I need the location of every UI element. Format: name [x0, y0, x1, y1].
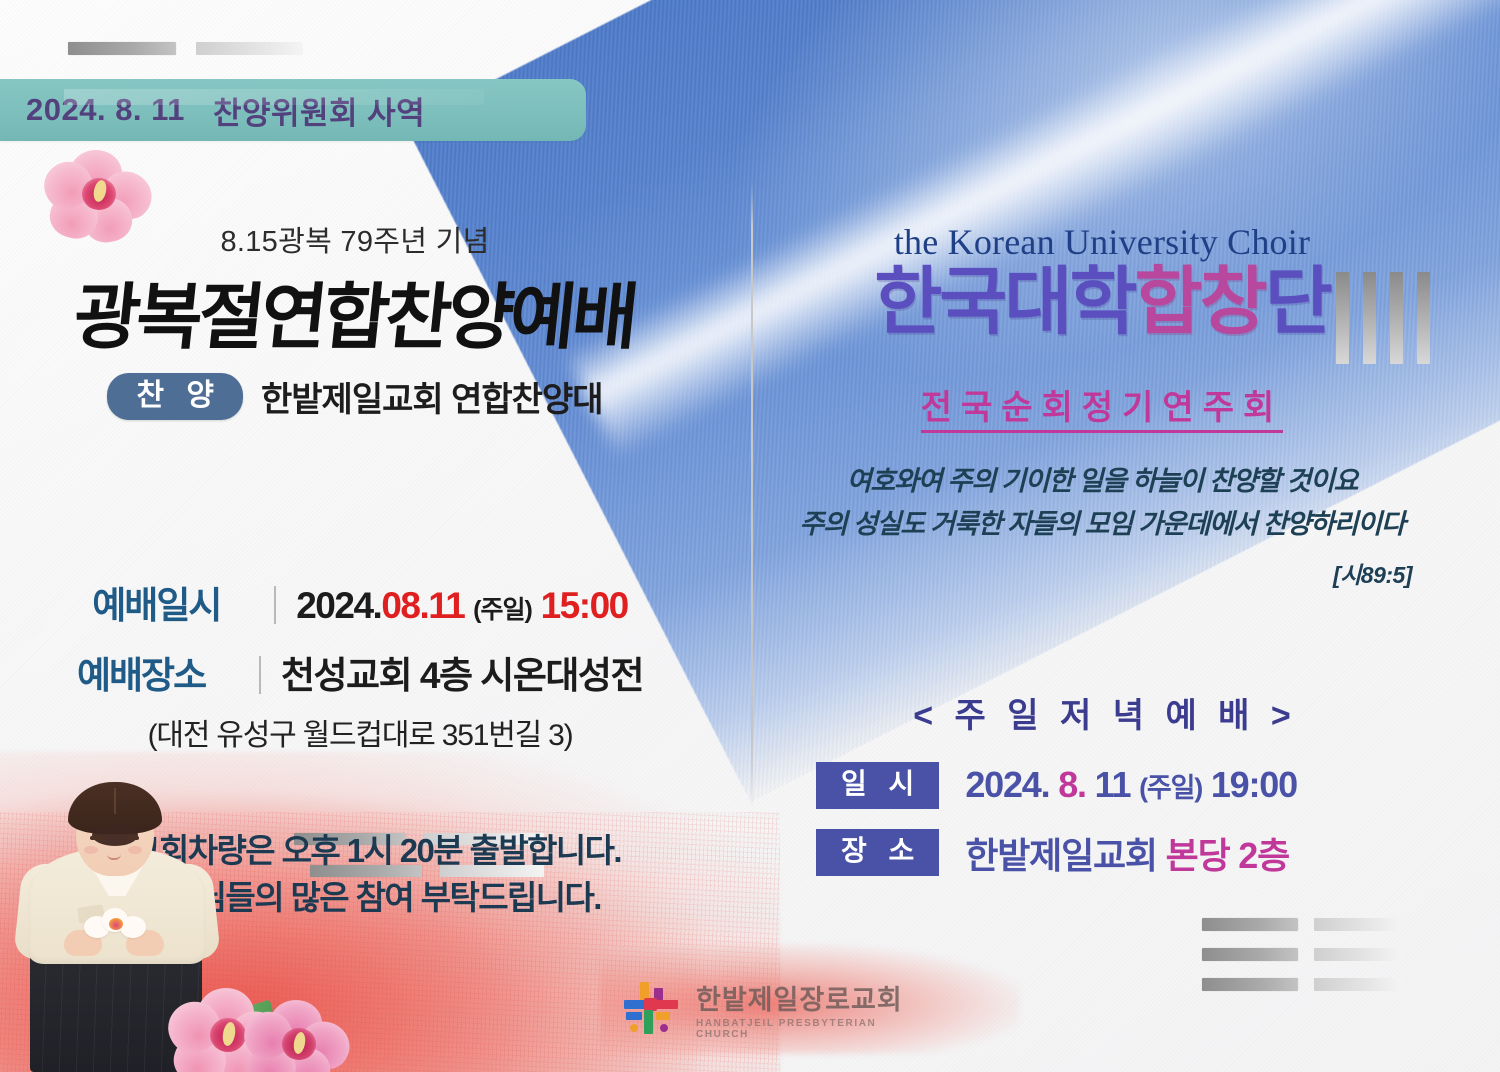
church-logo: 한밭제일장로교회 HANBATJEIL PRESBYTERIAN CHURCH [622, 978, 922, 1040]
evening-service-title: < 주 일 저 녁 예 배 > [752, 688, 1452, 737]
praise-badge: 찬 양 [107, 373, 243, 421]
choir-title-part1: 한국대학 [874, 260, 1134, 343]
verse-reference: [시89:5] [752, 556, 1412, 590]
info-separator [274, 586, 276, 624]
woman-cheek-left [84, 846, 98, 854]
evening-place-church: 한밭제일교회 [965, 835, 1157, 876]
praise-team-name: 한밭제일교회 연합찬양대 [261, 372, 603, 421]
service-time: 15:00 [541, 585, 628, 626]
evening-time: 19:00 [1211, 764, 1297, 805]
service-datetime-label: 예배일시 [92, 575, 270, 629]
woman-hair-part [114, 788, 116, 814]
evening-datetime-tag: 일 시 [816, 762, 939, 809]
woman-hair-bun [92, 824, 138, 846]
service-place-value: 천성교회 4층 시온대성전 [281, 645, 643, 699]
choir-title-part2: 합창 [1135, 260, 1265, 343]
mugunghwa-flower-icon [244, 1000, 350, 1072]
verse-line-2: 주의 성실도 거룩한 자들의 모임 가운데에서 찬양하리이다 [752, 503, 1452, 546]
church-logo-text: 한밭제일장로교회 HANBATJEIL PRESBYTERIAN CHURCH [696, 978, 922, 1040]
info-separator [259, 656, 261, 694]
date-monthday: 08.11 [381, 585, 464, 626]
evening-place-value: 한밭제일교회 본당 2층 [965, 827, 1289, 879]
evening-weekday: (주일) [1139, 773, 1202, 803]
woman-cheek-right [128, 846, 142, 854]
bible-verse: 여호와여 주의 기이한 일을 하늘이 찬양할 것이요 주의 성실도 거룩한 자들… [752, 460, 1452, 546]
choir-english-title: the Korean University Choir [752, 221, 1452, 263]
choir-title-part3: 단 [1265, 260, 1330, 343]
verse-line-1: 여호와여 주의 기이한 일을 하늘이 찬양할 것이요 [752, 460, 1452, 503]
church-name-korean: 한밭제일장로교회 [696, 978, 922, 1017]
choir-subtitle: 전국순회정기연주회 [921, 389, 1284, 433]
left-pretitle: 8.15광복 79주년 기념 [0, 218, 710, 260]
evening-day: 11 [1095, 764, 1131, 805]
service-info-block: 예배일시 2024.08.11 (주일) 15:00 예배장소 천성교회 4층 … [0, 575, 720, 715]
evening-service-block: 일 시 2024. 8. 11 (주일) 19:00 장 소 한밭제일교회 본당… [816, 762, 1476, 897]
woman-eye-left [90, 836, 103, 840]
service-place-row: 예배장소 천성교회 4층 시온대성전 [0, 645, 720, 699]
service-address: (대전 유성구 월드컵대로 351번길 3) [0, 710, 720, 754]
evening-place-tag: 장 소 [816, 829, 939, 876]
poster-canvas: 2024. 8. 11 찬양위원회 사역 8.15광복 79주년 기념 광복절연… [0, 0, 1500, 1072]
choir-korean-title: 한국대학합창단 [752, 262, 1452, 342]
date-year: 2024. [296, 585, 381, 626]
evening-place-floor: 본당 2층 [1166, 835, 1289, 876]
church-cross-logo-icon [622, 980, 684, 1038]
service-datetime-value: 2024.08.11 (주일) 15:00 [296, 585, 628, 627]
evening-datetime-value: 2024. 8. 11 (주일) 19:00 [965, 764, 1297, 806]
choir-subtitle-wrap: 전국순회정기연주회 [752, 380, 1452, 429]
left-main-title: 광복절연합찬양예배 [0, 258, 716, 363]
service-datetime-row: 예배일시 2024.08.11 (주일) 15:00 [0, 575, 720, 629]
praise-team-row: 찬 양 한밭제일교회 연합찬양대 [0, 372, 710, 421]
church-name-english: HANBATJEIL PRESBYTERIAN CHURCH [696, 1018, 922, 1040]
evening-datetime-row: 일 시 2024. 8. 11 (주일) 19:00 [816, 762, 1476, 809]
evening-year: 2024. [965, 764, 1049, 805]
right-column: the Korean University Choir 한국대학합창단 전국순회… [752, 0, 1500, 1072]
white-flower-icon [84, 908, 146, 942]
woman-eye-right [126, 836, 139, 840]
date-weekday: (주일) [473, 596, 532, 624]
service-place-label: 예배장소 [77, 645, 255, 699]
evening-place-row: 장 소 한밭제일교회 본당 2층 [816, 827, 1476, 879]
evening-month: 8. [1058, 764, 1086, 805]
